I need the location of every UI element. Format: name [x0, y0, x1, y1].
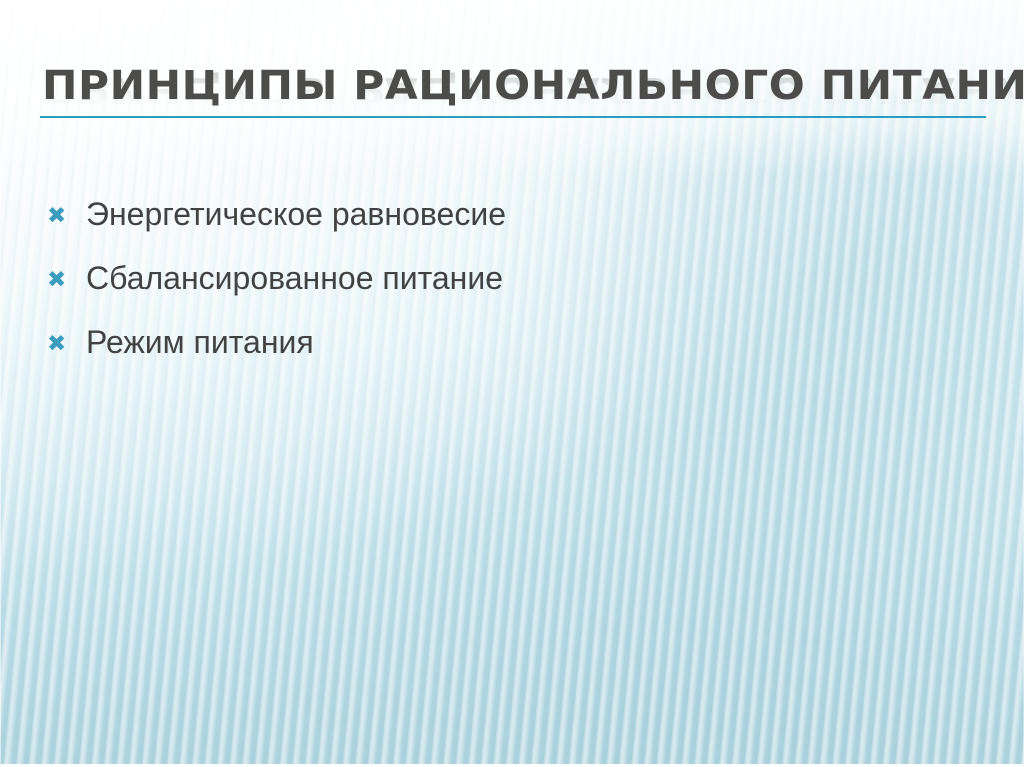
presentation-slide: ПРИНЦИПЫ РАЦИОНАЛЬНОГО ПИТАНИЯ ПРИНЦИПЫ … — [0, 0, 1024, 767]
slide-border — [0, 0, 1024, 767]
